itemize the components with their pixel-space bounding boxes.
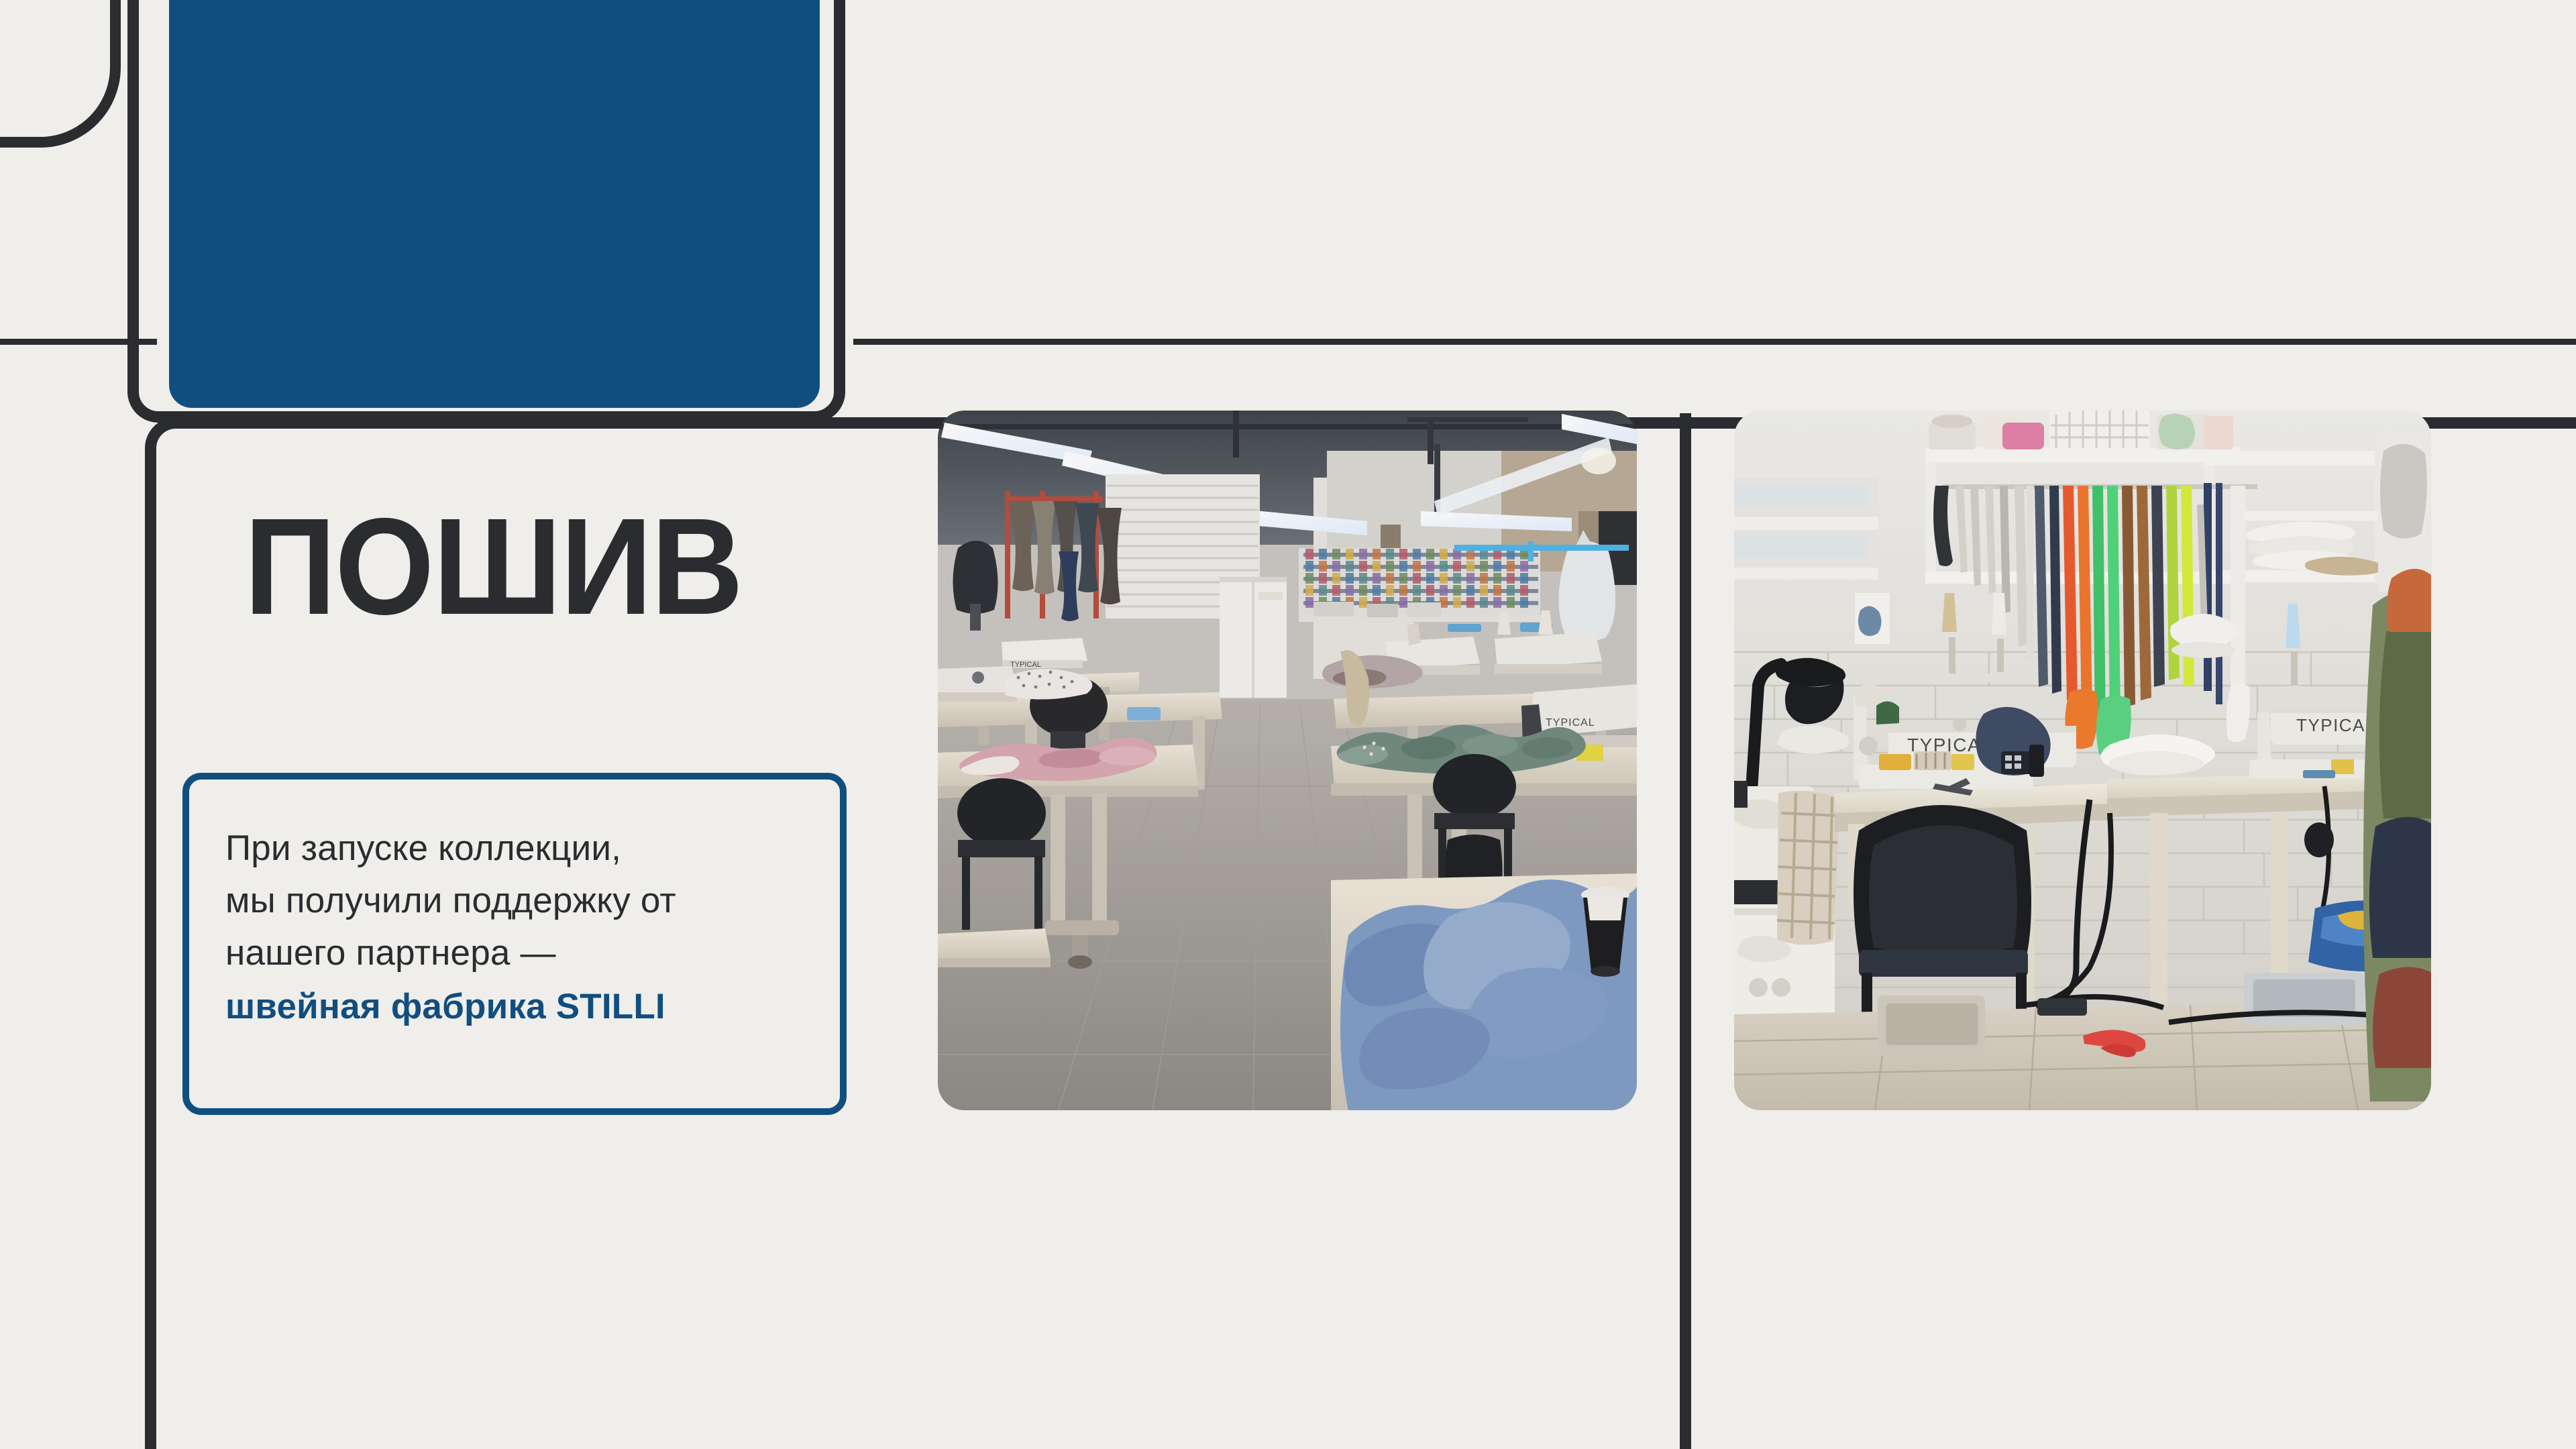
callout-line-2: мы получили поддержку от	[225, 881, 676, 920]
sewing-workshop-station-photo: TYPICAL	[1734, 411, 2431, 1110]
callout-line-1: При запуске коллекции,	[225, 828, 621, 868]
sewing-factory-floor-photo: TYPICAL	[938, 411, 1637, 1110]
page-title: ПОШИВ	[244, 498, 742, 635]
decor-corner-arc	[0, 0, 121, 148]
decor-vertical-divider	[1680, 413, 1691, 1449]
callout-line-3: нашего партнера —	[225, 933, 556, 973]
slide-canvas: ПОШИВ При запуске коллекции, мы получили…	[0, 0, 2576, 1449]
decor-horizontal-rule-right	[853, 339, 2576, 345]
callout-box: При запуске коллекции, мы получили подде…	[182, 773, 847, 1115]
decor-horizontal-rule-left	[0, 339, 157, 345]
callout-paragraph: При запуске коллекции, мы получили подде…	[225, 822, 804, 1033]
hero-blue-block	[169, 0, 820, 408]
callout-accent-line: швейная фабрика STILLI	[225, 981, 804, 1033]
